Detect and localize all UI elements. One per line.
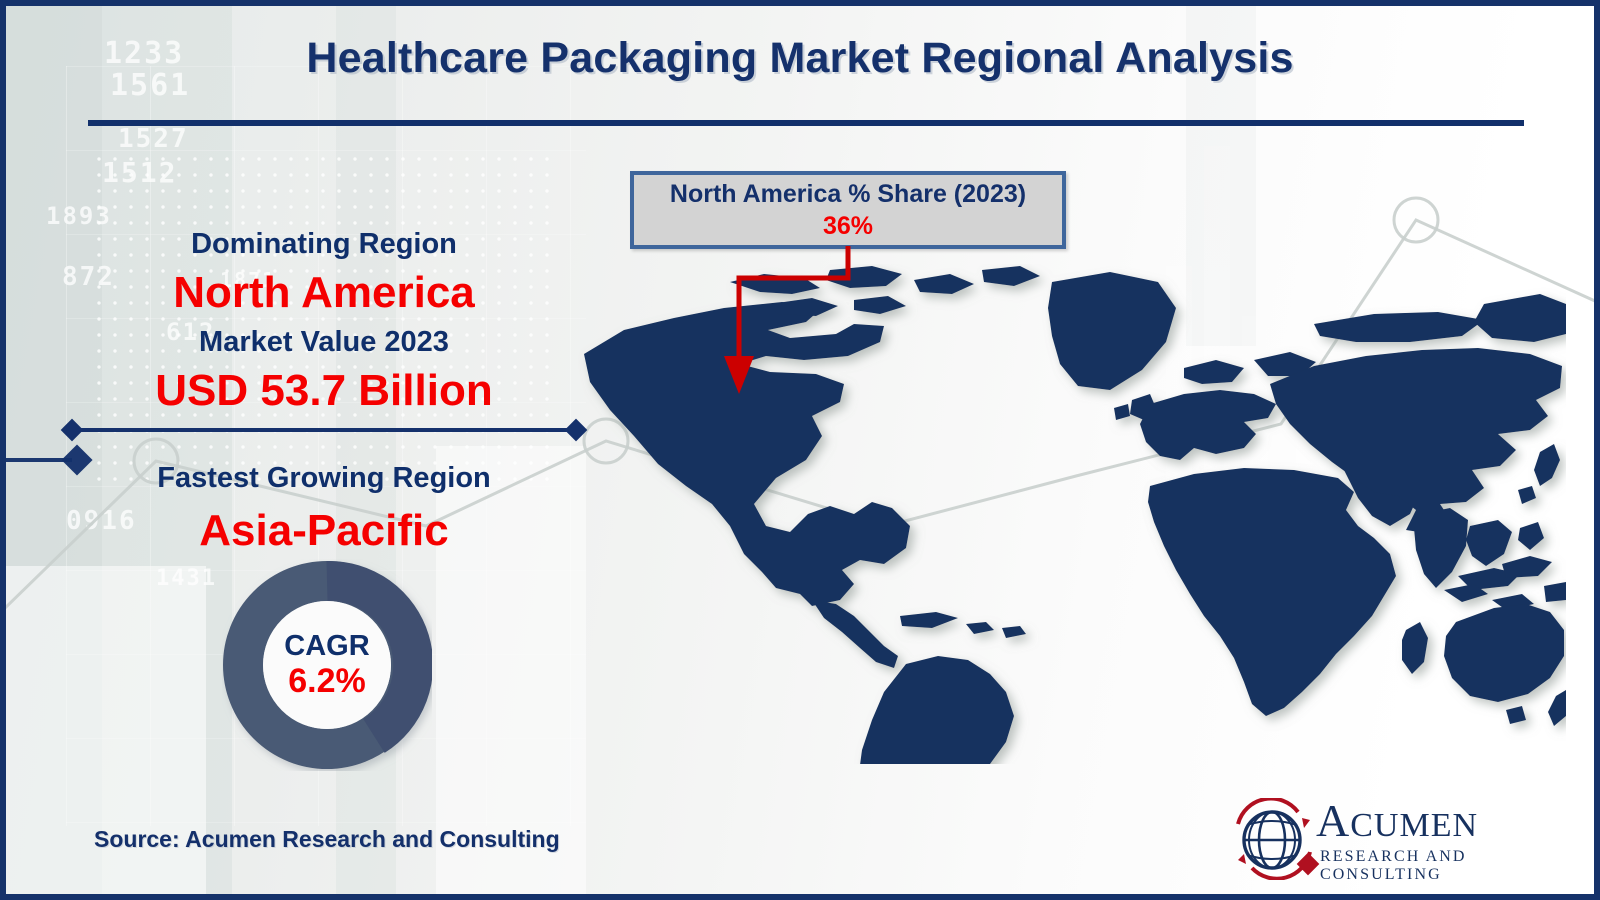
cagr-label: CAGR: [284, 630, 369, 662]
background-number: 1512: [102, 156, 177, 189]
market-value-value: USD 53.7 Billion: [64, 366, 584, 416]
page-title: Healthcare Packaging Market Regional Ana…: [6, 34, 1594, 83]
logo-tagline: RESEARCH AND CONSULTING: [1320, 848, 1534, 884]
infographic-canvas: 12331561152715128721893091614311871612: [0, 0, 1600, 900]
section-divider: [64, 427, 584, 433]
acumen-logo: ACUMEN RESEARCH AND CONSULTING: [1224, 796, 1534, 878]
logo-name-rest: CUMEN: [1350, 807, 1478, 844]
background-number: 1527: [118, 124, 189, 154]
fastest-region-value: Asia-Pacific: [64, 506, 584, 556]
background-number: 1893: [46, 202, 112, 230]
globe-icon: [1224, 798, 1324, 880]
cagr-donut-chart: CAGR 6.2%: [222, 559, 432, 771]
source-text: Source: Acumen Research and Consulting: [94, 826, 560, 853]
callout-arrow: [706, 246, 886, 406]
callout-title: North America % Share (2023): [670, 179, 1026, 209]
background-number: 1431: [156, 566, 217, 591]
north-america-share-callout: North America % Share (2023) 36%: [630, 171, 1066, 249]
fastest-region-label: Fastest Growing Region: [64, 462, 584, 495]
title-underline: [88, 120, 1524, 126]
cagr-value: 6.2%: [288, 662, 366, 700]
callout-value: 36%: [823, 211, 873, 241]
dominating-region-value: North America: [64, 268, 584, 318]
donut-center-labels: CAGR 6.2%: [222, 559, 432, 771]
divider-bar: [74, 428, 574, 432]
market-value-label: Market Value 2023: [64, 326, 584, 359]
logo-name-first: A: [1316, 795, 1350, 846]
dominating-region-label: Dominating Region: [64, 228, 584, 261]
background-dot-grid: [96, 156, 556, 486]
logo-wordmark: ACUMEN: [1316, 798, 1478, 844]
